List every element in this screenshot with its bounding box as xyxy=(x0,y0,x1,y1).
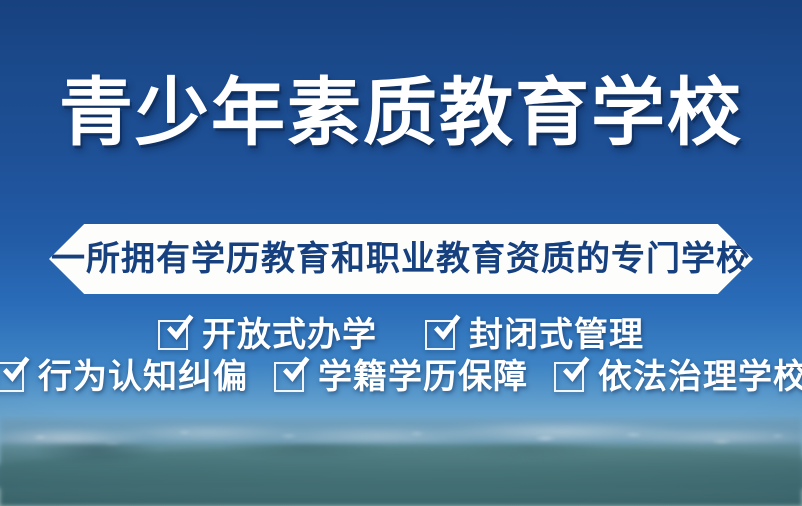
feature-label: 学籍学历保障 xyxy=(318,360,528,394)
checkbox-checked-icon xyxy=(0,362,24,392)
feature-item-behavior-correction: 行为认知纠偏 xyxy=(0,360,248,394)
feature-item-open-schooling: 开放式办学 xyxy=(158,318,377,352)
feature-label: 封闭式管理 xyxy=(469,318,644,352)
subtitle-text: 一所拥有学历教育和职业教育资质的专门学校 xyxy=(51,242,751,276)
feature-row-1: 开放式办学 封闭式管理 xyxy=(0,318,802,352)
checkbox-checked-icon xyxy=(158,320,188,350)
feature-row-2: 行为认知纠偏 学籍学历保障 依法 xyxy=(0,360,802,394)
banner-content: 青少年素质教育学校 一所拥有学历教育和职业教育资质的专门学校 开放式办学 xyxy=(0,0,802,506)
checkbox-checked-icon xyxy=(425,320,455,350)
feature-item-academic-record-guarantee: 学籍学历保障 xyxy=(274,360,528,394)
feature-label: 依法治理学校 xyxy=(598,360,802,394)
checkbox-checked-icon xyxy=(554,362,584,392)
feature-label: 开放式办学 xyxy=(202,318,377,352)
promo-banner: 青少年素质教育学校 一所拥有学历教育和职业教育资质的专门学校 开放式办学 xyxy=(0,0,802,506)
feature-item-lawful-governance: 依法治理学校 xyxy=(554,360,802,394)
feature-list: 开放式办学 封闭式管理 xyxy=(0,318,802,394)
feature-label: 行为认知纠偏 xyxy=(38,360,248,394)
feature-item-closed-management: 封闭式管理 xyxy=(425,318,644,352)
subtitle-ribbon: 一所拥有学历教育和职业教育资质的专门学校 xyxy=(49,224,753,294)
page-title: 青少年素质教育学校 xyxy=(0,76,802,150)
subtitle-ribbon-shape: 一所拥有学历教育和职业教育资质的专门学校 xyxy=(49,224,753,294)
checkbox-checked-icon xyxy=(274,362,304,392)
